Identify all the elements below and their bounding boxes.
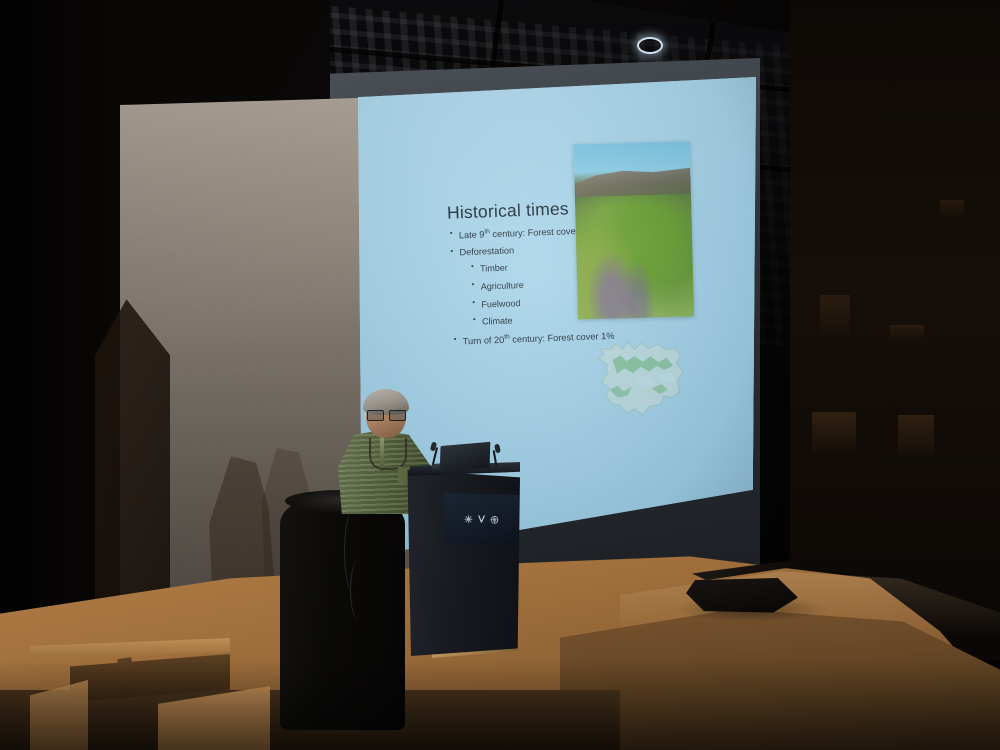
ring-spotlight-icon <box>637 37 663 54</box>
snowflake-emblem-icon <box>463 514 472 523</box>
right-wall-lit-panel <box>940 200 964 216</box>
wedge-body <box>686 578 798 614</box>
right-wall-lit-panel <box>890 325 924 339</box>
glasses-lens <box>367 410 384 421</box>
glasses-lens <box>389 410 406 421</box>
stair-step <box>158 686 270 750</box>
laptop-screen[interactable] <box>440 442 491 473</box>
cable <box>350 560 367 620</box>
stair-step <box>30 638 230 658</box>
podium-emblem-panel <box>442 493 519 545</box>
circular-emblem-icon <box>489 515 498 524</box>
stage-floor-monitor <box>686 558 810 620</box>
eyeglasses-icon <box>367 410 405 420</box>
stair-shadow <box>70 654 230 702</box>
right-wall-lit-panel <box>898 415 934 455</box>
lecture-hall-scene: Historical times Late 9th century: Fores… <box>0 0 1000 750</box>
stage-stairs <box>30 628 270 750</box>
right-wall-lit-panel <box>812 412 856 452</box>
stair-side <box>30 680 88 750</box>
right-wall-lit-panel <box>820 295 850 337</box>
draped-round-table <box>280 492 405 730</box>
lanyard <box>369 438 407 470</box>
v-emblem-icon <box>476 514 485 524</box>
